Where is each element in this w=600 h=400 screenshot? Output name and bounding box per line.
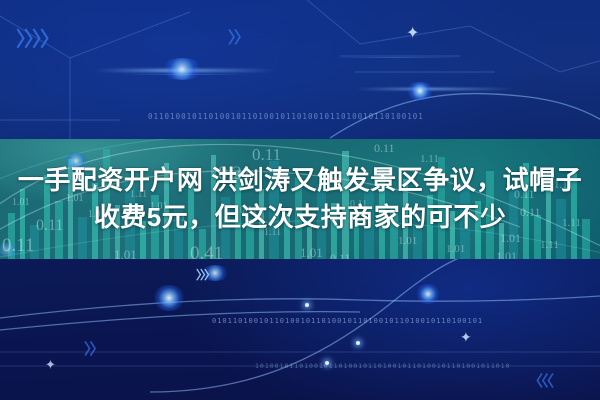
sparkle-icon: ✦: [45, 358, 56, 371]
decimal-label: 1.01: [114, 247, 137, 259]
glow-blob: [405, 82, 435, 100]
decimal-label: 0.41: [190, 243, 223, 259]
decimal-label: 1.11: [540, 239, 559, 251]
headline-line-1: 一手配资开户网 洪剑涛又触发景区争议，试帽子: [0, 162, 600, 199]
decimal-label: 0.11: [330, 251, 351, 259]
chevron-left-icon: 〈〈〈: [528, 370, 552, 391]
binary-strip: 1010010110100101101001011010010110100101…: [255, 362, 511, 370]
glow-blob: [200, 265, 230, 281]
node-dot: [305, 303, 309, 307]
glow-streak: [355, 88, 515, 90]
binary-strip: 0101101001011010010110100101101001011010…: [212, 317, 483, 325]
decimal-label: 0.11: [2, 235, 35, 257]
glow-streak: [95, 69, 275, 72]
chevron-right-icon: 〉〉: [84, 338, 103, 359]
decimal-label: 1.01: [496, 249, 517, 259]
headline-text: 一手配资开户网 洪剑涛又触发景区争议，试帽子 收费5元，但这次支持商家的可不少: [0, 162, 600, 236]
glow-streak: [120, 74, 250, 75]
chevron-right-icon: 〉〉: [228, 24, 248, 48]
sparkle-icon: ✦: [406, 26, 419, 42]
chevron-right-icon: 〉〉〉〉: [16, 23, 58, 52]
decimal-label: 1.01: [446, 243, 465, 255]
chevron-right-icon: 〉〉〉: [196, 266, 214, 283]
glow-streak: [330, 57, 460, 58]
node-dot: [325, 361, 329, 365]
binary-strip: 0110100101101001011010010110100101101001…: [148, 112, 424, 121]
glow-blob: [160, 58, 204, 80]
headline-line-2: 收费5元，但这次支持商家的可不少: [0, 199, 600, 236]
glow-blob: [415, 284, 441, 304]
decimal-label: 1.01: [398, 235, 417, 247]
sparkle-icon: ✦: [460, 330, 472, 344]
banner-image: ✦ ✦ ✦ 〉〉〉〉 〉〉 〉〉 〈〈〈 〉〉〉 011010010110100…: [0, 0, 600, 400]
decimal-label: 0.11: [374, 141, 395, 156]
node-dot: [356, 341, 360, 345]
glow-blob: [152, 285, 186, 311]
decimal-label: 1.01: [300, 245, 323, 259]
